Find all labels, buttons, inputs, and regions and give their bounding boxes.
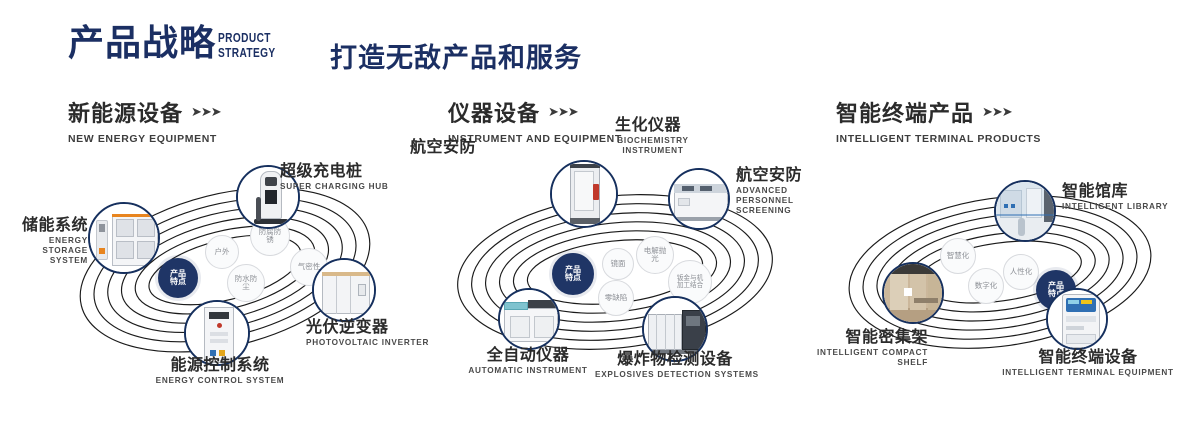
feature-bubble-zero-defect: 零缺陷 (598, 280, 634, 316)
caption-en: SUPER CHARGING HUB (280, 182, 430, 192)
chevron-triple-icon: ➤➤➤ (982, 104, 1012, 120)
caption-en: EXPLOSIVES DETECTION SYSTEMS (595, 370, 755, 380)
caption-en: INTELLIGENT TERMINAL EQUIPMENT (998, 368, 1178, 378)
caption-super-charging-hub: 超级充电桩 SUPER CHARGING HUB (280, 162, 430, 192)
page-title-en-line1: PRODUCT (218, 30, 276, 45)
core-badge-product-features: 产品 特点 (552, 253, 594, 295)
section-title-cn: 新能源设备 (68, 96, 183, 128)
product-strategy-infographic: 产品战略 PRODUCT STRATEGY 打造无敌产品和服务 新能源设备➤➤➤… (0, 0, 1200, 422)
feature-bubble-smart: 智慧化 (940, 238, 976, 274)
section-title-en: INTELLIGENT TERMINAL PRODUCTS (836, 133, 1041, 145)
feature-bubble-digital: 数字化 (968, 268, 1004, 304)
core-badge-line2: 特点 (565, 274, 581, 282)
caption-energy-storage-system: 储能系统 ENERGY STORAGE SYSTEM (2, 216, 88, 267)
caption-cn: 超级充电桩 (280, 162, 430, 180)
feature-bubble-humanized: 人性化 (1003, 254, 1039, 290)
caption-cn: 爆炸物检测设备 (595, 350, 755, 368)
page-title-en-line2: STRATEGY (218, 45, 276, 60)
cluster-instrument: 产品 特点 镜面 电解抛光 零缺陷 钣金与机加工结合 生化仪器 BIOCHEMI… (430, 160, 800, 380)
feature-bubble-outdoor: 户外 (205, 235, 239, 269)
section-title-cn: 智能终端产品 (836, 96, 974, 128)
caption-automatic-instrument: 全自动仪器 AUTOMATIC INSTRUMENT (458, 346, 598, 376)
caption-en: BIOCHEMISTRY INSTRUMENT (598, 136, 708, 157)
intelligent-library-photo (996, 182, 1054, 240)
compact-shelf-photo (884, 264, 942, 322)
caption-aviation-security-overlay: 航空安防 (410, 138, 520, 156)
caption-cn: 能源控制系统 (125, 356, 315, 374)
caption-en: INTELLIGENT COMPACT SHELF (808, 348, 928, 369)
section-header-new-energy: 新能源设备➤➤➤ NEW ENERGY EQUIPMENT (68, 96, 221, 145)
caption-en: ADVANCED PERSONNEL SCREENING (736, 186, 832, 217)
biochemistry-photo (552, 162, 616, 226)
caption-en: AUTOMATIC INSTRUMENT (458, 366, 598, 376)
cluster-intelligent: 智慧化 数字化 人性化 产品 特点 智能馆库 I (820, 160, 1180, 380)
caption-biochemistry-instrument: 生化仪器 BIOCHEMISTRY INSTRUMENT (578, 116, 718, 156)
caption-cn: 全自动仪器 (458, 346, 598, 364)
caption-energy-control-system: 能源控制系统 ENERGY CONTROL SYSTEM (125, 356, 315, 386)
node-biochemistry-instrument[interactable] (550, 160, 618, 228)
feature-bubble-sheetmetal-label: 钣金与机加工结合 (675, 275, 705, 289)
section-header-intelligent: 智能终端产品➤➤➤ INTELLIGENT TERMINAL PRODUCTS (836, 96, 1041, 145)
caption-intelligent-terminal-equipment: 智能终端设备 INTELLIGENT TERMINAL EQUIPMENT (998, 348, 1178, 378)
chevron-triple-icon: ➤➤➤ (191, 104, 221, 120)
node-energy-storage-system[interactable] (88, 202, 160, 274)
caption-explosives-detection-systems: 爆炸物检测设备 EXPLOSIVES DETECTION SYSTEMS (595, 350, 755, 380)
pv-inverter-photo (314, 260, 374, 320)
feature-bubble-electropolish: 电解抛光 (636, 236, 674, 274)
node-photovoltaic-inverter[interactable] (312, 258, 376, 322)
feature-bubble-waterproof-label: 防水防尘 (234, 275, 258, 291)
caption-intelligent-compact-shelf: 智能密集架 INTELLIGENT COMPACT SHELF (776, 328, 928, 368)
feature-bubble-waterproof: 防水防尘 (227, 264, 265, 302)
energy-storage-photo (90, 204, 158, 272)
caption-cn: 储能系统 (2, 216, 88, 234)
caption-cn: 智能馆库 (1062, 182, 1200, 200)
node-intelligent-library[interactable] (994, 180, 1056, 242)
node-advanced-personnel-screening[interactable] (668, 168, 730, 230)
section-title-cn: 仪器设备 (448, 96, 540, 128)
caption-cn: 智能终端设备 (998, 348, 1178, 366)
node-automatic-instrument[interactable] (498, 288, 560, 350)
chevron-triple-icon: ➤➤➤ (548, 104, 578, 120)
core-badge-line2: 特点 (170, 278, 186, 286)
feature-bubble-anticorrosion-label: 防腐防锈 (257, 228, 283, 244)
caption-en: ENERGY CONTROL SYSTEM (125, 376, 315, 386)
caption-en: ENERGY STORAGE SYSTEM (2, 236, 88, 267)
caption-cn: 智能密集架 (776, 328, 928, 346)
caption-en: INTELLIGENT LIBRARY (1062, 202, 1200, 212)
page-subtitle: 打造无敌产品和服务 (330, 36, 582, 75)
caption-intelligent-library: 智能馆库 INTELLIGENT LIBRARY (1062, 182, 1200, 212)
core-badge-product-features: 产品 特点 (158, 258, 198, 298)
feature-bubble-electropolish-label: 电解抛光 (643, 247, 667, 263)
caption-cn: 航空安防 (410, 138, 520, 156)
feature-bubble-mirror: 镜面 (602, 248, 634, 280)
caption-cn: 生化仪器 (578, 116, 718, 134)
screening-photo (670, 170, 728, 228)
node-intelligent-terminal-equipment[interactable] (1046, 288, 1108, 350)
node-intelligent-compact-shelf[interactable] (882, 262, 944, 324)
page-title-en: PRODUCT STRATEGY (218, 30, 276, 60)
page-title-cn: 产品战略 (68, 26, 216, 62)
terminal-equipment-photo (1048, 290, 1106, 348)
automatic-instrument-photo (500, 290, 558, 348)
cluster-new-energy: 产品 特点 户外 防腐防锈 防水防尘 气密性 (50, 160, 400, 380)
section-title-en: NEW ENERGY EQUIPMENT (68, 133, 221, 145)
